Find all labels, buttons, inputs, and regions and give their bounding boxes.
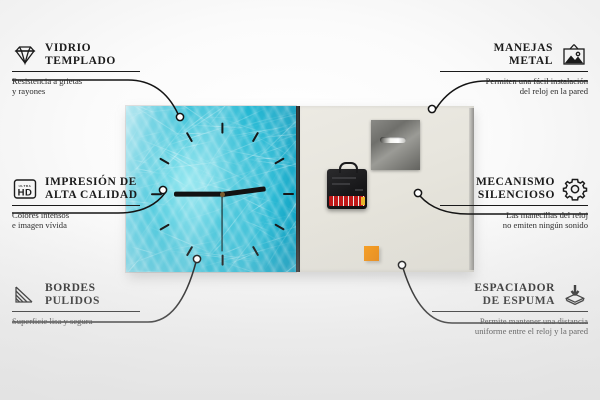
clock-mechanism xyxy=(327,169,367,209)
clock-second-hand xyxy=(221,194,222,252)
feature-title: ESPACIADOR DE ESPUMA xyxy=(474,282,555,307)
feature-bordes-pulidos: BORDES PULIDOS Superficie lisa y segura xyxy=(12,282,140,326)
feature-rule xyxy=(440,205,588,206)
clock-center-pin xyxy=(220,192,225,197)
feature-desc: Superficie lisa y segura xyxy=(12,316,140,327)
clock-tick xyxy=(283,193,294,195)
foam-spacer xyxy=(364,246,379,261)
battery-terminal xyxy=(361,197,365,205)
feature-desc: Permite mantener una distancia uniforme … xyxy=(432,316,588,337)
ultra-hd-icon-bottom: HD xyxy=(18,187,33,198)
feature-rule xyxy=(12,205,140,206)
feature-rule xyxy=(440,71,588,72)
feature-title-row: MANEJAS METAL xyxy=(440,42,588,67)
gear-icon xyxy=(562,177,588,201)
mechanism-loop xyxy=(339,162,358,173)
metal-hanger xyxy=(371,120,420,170)
feature-title: MANEJAS METAL xyxy=(494,42,553,67)
feature-title-row: ultra HD IMPRESIÓN DE ALTA CALIDAD xyxy=(12,176,140,201)
feature-title-row: VIDRIO TEMPLADO xyxy=(12,42,140,67)
clock-tick xyxy=(151,193,162,195)
mechanism-detail xyxy=(332,183,350,185)
feature-title: BORDES PULIDOS xyxy=(45,282,100,307)
clock-front-panel xyxy=(126,106,296,272)
feature-desc: Colores intensos e imagen vívida xyxy=(12,210,140,231)
feature-desc: Resistencia a grietas y rayones xyxy=(12,76,140,97)
diamond-icon xyxy=(12,44,38,66)
battery xyxy=(329,196,365,206)
feature-title: MECANISMO SILENCIOSO xyxy=(476,176,555,201)
feature-title: VIDRIO TEMPLADO xyxy=(45,42,116,67)
feature-manejas-metal: MANEJAS METAL Permiten una fácil instala… xyxy=(440,42,588,97)
hanger-slot xyxy=(380,137,406,143)
feature-title-row: MECANISMO SILENCIOSO xyxy=(440,176,588,201)
clock-tick xyxy=(221,254,223,265)
clock-minute-hand xyxy=(174,192,222,197)
mechanism-detail xyxy=(332,177,356,179)
picture-frame-icon xyxy=(560,43,588,67)
product-group xyxy=(126,106,474,274)
foam-spacer-icon xyxy=(562,283,588,307)
feature-mecanismo-silencioso: MECANISMO SILENCIOSO Las manecillas del … xyxy=(440,176,588,231)
feature-title: IMPRESIÓN DE ALTA CALIDAD xyxy=(45,176,138,201)
feature-title-row: ESPACIADOR DE ESPUMA xyxy=(432,282,588,307)
feature-rule xyxy=(12,311,140,312)
feature-vidrio-templado: VIDRIO TEMPLADO Resistencia a grietas y … xyxy=(12,42,140,97)
feature-impresion-alta-calidad: ultra HD IMPRESIÓN DE ALTA CALIDAD Color… xyxy=(12,176,140,231)
feature-desc: Permiten una fácil instalación del reloj… xyxy=(440,76,588,97)
ultra-hd-icon: ultra HD xyxy=(12,177,38,201)
mechanism-detail xyxy=(355,189,363,191)
glass-reflection xyxy=(126,106,296,272)
clock-tick xyxy=(221,122,223,133)
feature-rule xyxy=(432,311,588,312)
feature-title-row: BORDES PULIDOS xyxy=(12,282,140,307)
feature-rule xyxy=(12,71,140,72)
feature-espaciador-espuma: ESPACIADOR DE ESPUMA Permite mantener un… xyxy=(432,282,588,337)
polished-edge-icon xyxy=(12,284,38,306)
infographic-canvas: VIDRIO TEMPLADO Resistencia a grietas y … xyxy=(0,0,600,400)
feature-desc: Las manecillas del reloj no emiten ningú… xyxy=(440,210,588,231)
